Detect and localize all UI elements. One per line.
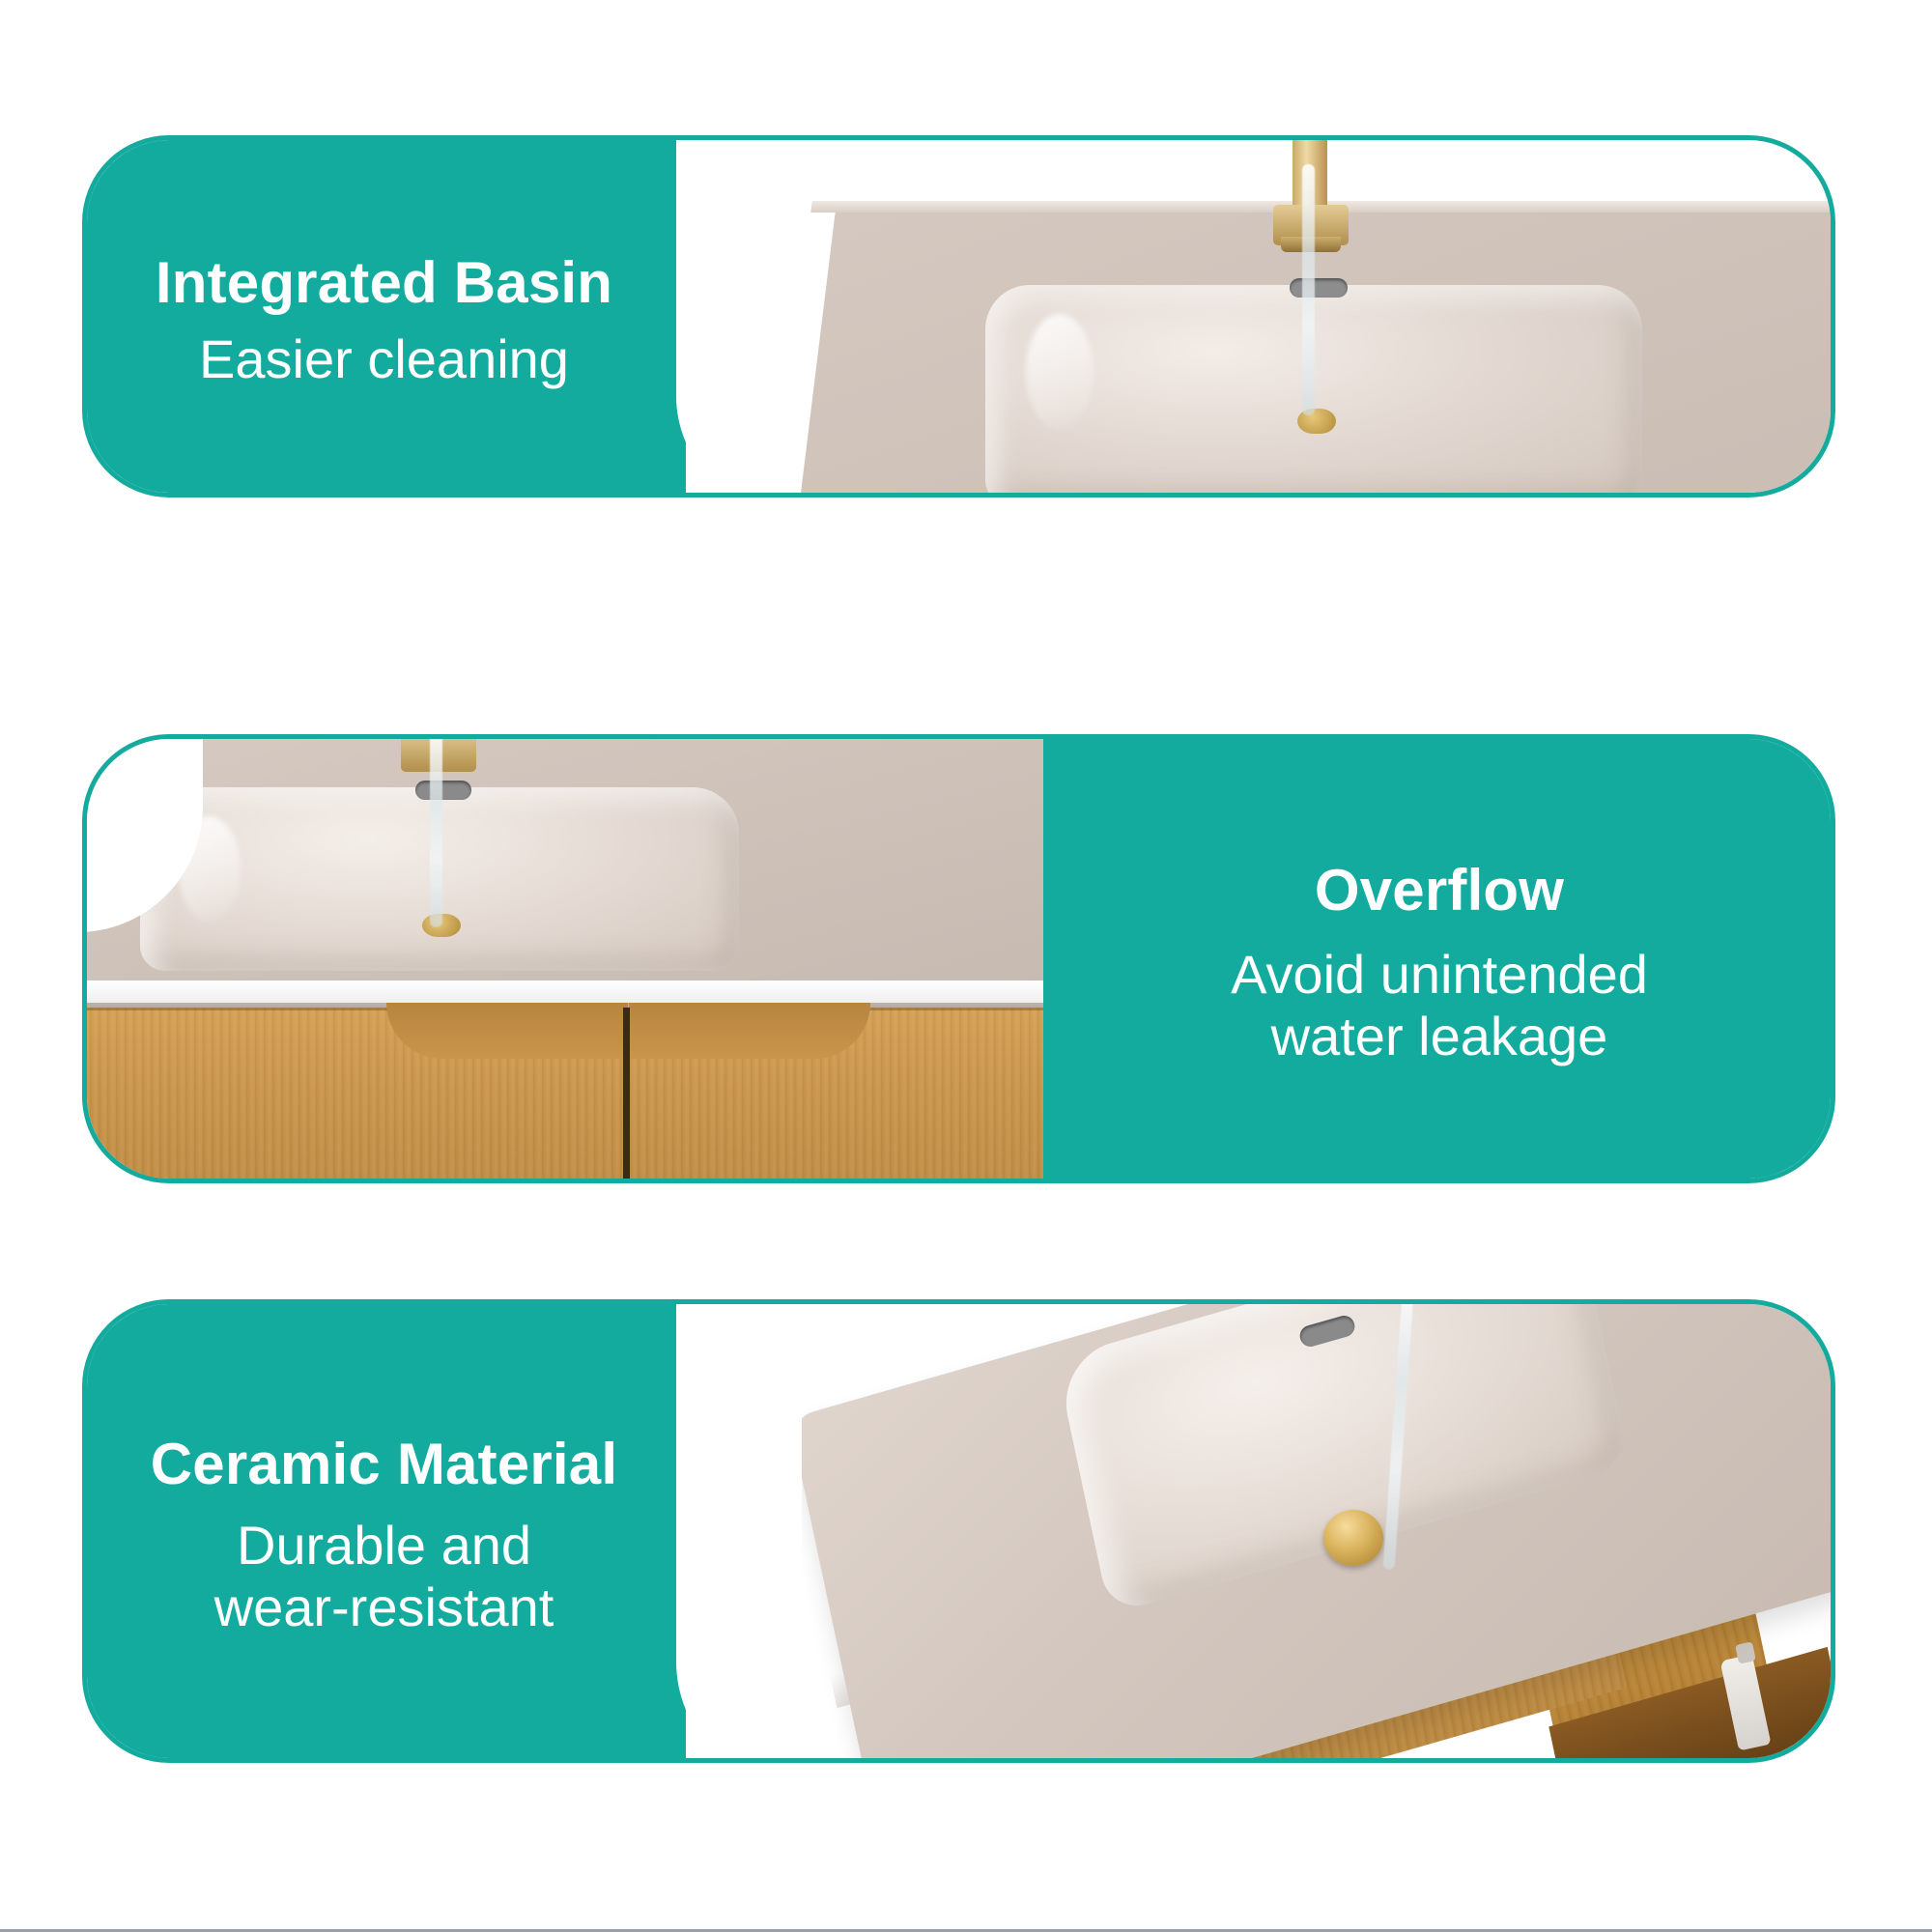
overflow-slot (1290, 278, 1348, 298)
feature-text-block-overflow: Overflow Avoid unintended water leakage (1043, 734, 1835, 1183)
product-image-integrated-basin (667, 135, 1835, 497)
feature-text-block-integrated-basin: Integrated Basin Easier cleaning (82, 135, 686, 497)
feature-text-block-ceramic-material: Ceramic Material Durable and wear-resist… (82, 1299, 686, 1763)
feature-subtitle-line-1: Durable and (214, 1515, 554, 1577)
feature-subtitle-line-2: wear-resistant (214, 1577, 554, 1638)
feature-subtitle-line-1: Avoid unintended (1231, 944, 1648, 1006)
infographic-canvas: Integrated Basin Easier cleaning Overflo… (0, 0, 1932, 1932)
basin-highlight (179, 816, 241, 923)
product-image-ceramic-material (705, 1299, 1835, 1763)
drawer-handle-notch-left (386, 1003, 628, 1059)
overflow-slot (415, 781, 471, 800)
water-stream (1302, 164, 1315, 415)
feature-subtitle: Easier cleaning (199, 328, 569, 390)
drawer-seam (623, 1008, 630, 1183)
shelf-bottle-cap (1735, 1641, 1756, 1663)
gold-drain (1323, 1510, 1383, 1566)
basin-highlight (1026, 314, 1094, 430)
drawer-handle-notch-right (629, 1003, 870, 1059)
feature-subtitle: Durable and wear-resistant (214, 1515, 554, 1638)
feature-panel-integrated-basin: Integrated Basin Easier cleaning (82, 135, 1835, 497)
feature-title: Integrated Basin (156, 252, 612, 314)
product-image-overflow (82, 734, 1203, 1183)
feature-title: Ceramic Material (151, 1434, 617, 1495)
feature-panel-ceramic-material: Ceramic Material Durable and wear-resist… (82, 1299, 1835, 1763)
feature-subtitle: Avoid unintended water leakage (1231, 944, 1648, 1067)
water-stream (430, 734, 442, 927)
feature-panel-overflow: Overflow Avoid unintended water leakage (82, 734, 1835, 1183)
feature-subtitle-line-2: water leakage (1231, 1006, 1648, 1067)
feature-title: Overflow (1315, 860, 1564, 922)
